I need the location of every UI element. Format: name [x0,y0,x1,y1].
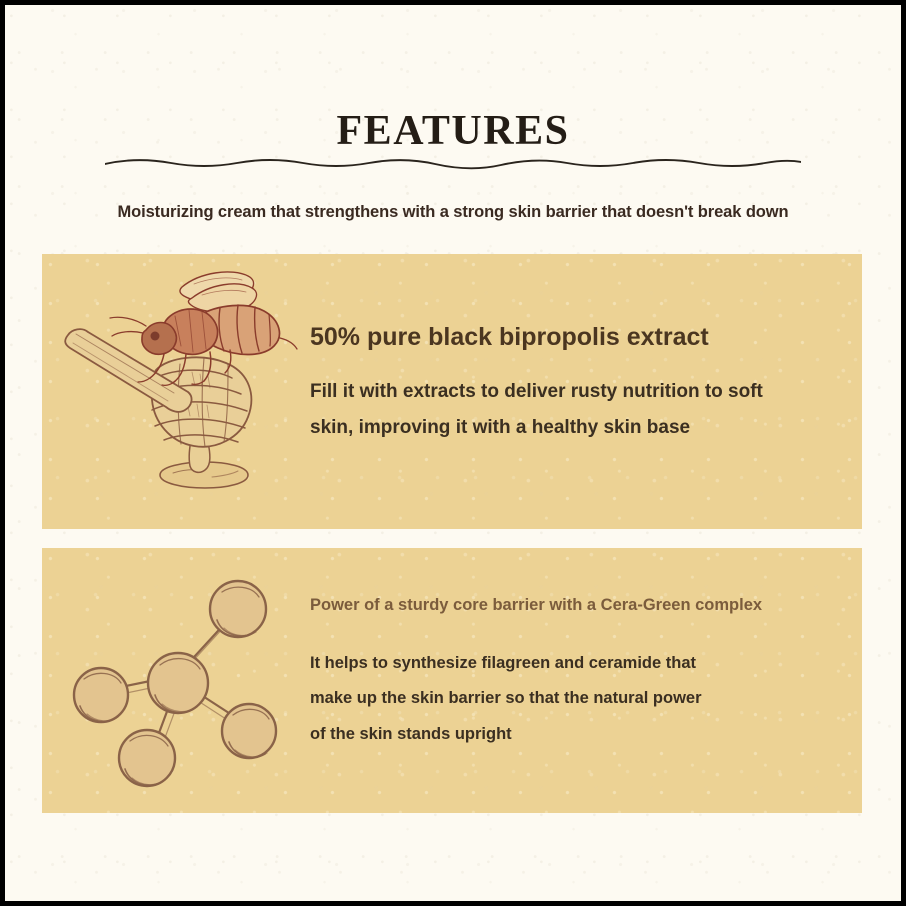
molecule-icon [42,548,310,813]
feature-body-line: It helps to synthesize filagreen and cer… [310,654,696,672]
page-frame: FEATURES Moisturizing cream that strengt… [5,5,901,901]
feature-body-line: make up the skin barrier so that the nat… [310,689,702,707]
page-title: FEATURES [5,110,901,152]
feature-card-text: 50% pure black bipropolis extract Fill i… [310,322,850,446]
feature-body-line: skin, improving it with a healthy skin b… [310,417,690,438]
feature-heading: Power of a sturdy core barrier with a Ce… [310,596,855,616]
feature-card-bipropolis: 50% pure black bipropolis extract Fill i… [42,254,862,529]
feature-card-text: Power of a sturdy core barrier with a Ce… [310,596,855,752]
feature-body: Fill it with extracts to deliver rusty n… [310,374,850,446]
feature-heading: 50% pure black bipropolis extract [310,322,850,352]
page-subtitle: Moisturizing cream that strengthens with… [5,203,901,222]
header: FEATURES [5,110,901,152]
feature-body-line: Fill it with extracts to deliver rusty n… [310,381,763,402]
feature-body: It helps to synthesize filagreen and cer… [310,646,855,752]
feature-card-cera-green: Power of a sturdy core barrier with a Ce… [42,548,862,813]
wavy-divider-icon [105,155,801,173]
feature-body-line: of the skin stands upright [310,725,512,743]
bee-and-honey-dipper-icon [42,254,310,529]
